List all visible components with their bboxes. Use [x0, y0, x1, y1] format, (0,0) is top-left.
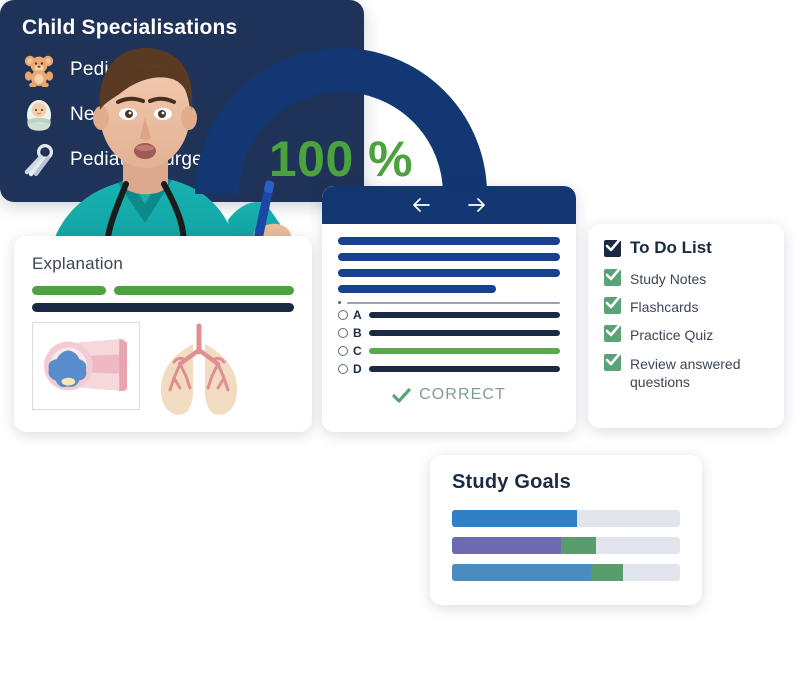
question-line	[338, 285, 496, 293]
explanation-bar-green-short	[32, 286, 106, 295]
explanation-text-placeholder-row-2	[32, 303, 294, 312]
explanation-text-placeholder-row-1	[32, 286, 294, 295]
todo-item-label: Flashcards	[630, 297, 698, 316]
radio-icon[interactable]	[338, 310, 348, 320]
checkbox-icon[interactable]	[604, 269, 621, 286]
checkmark-icon	[603, 293, 623, 313]
todo-list-card[interactable]: To Do List Study Notes Flashcards	[588, 224, 784, 428]
quiz-option-bar	[369, 312, 560, 318]
quiz-option-c[interactable]: C	[338, 345, 560, 357]
explanation-bar-green-long	[114, 286, 294, 295]
study-goal-segment	[452, 537, 561, 554]
quiz-option-letter: B	[353, 327, 364, 339]
checkbox-header-icon[interactable]	[604, 240, 621, 257]
todo-item[interactable]: Review answered questions	[604, 354, 770, 391]
quiz-card[interactable]: A B C D CORRECT	[322, 186, 576, 432]
bronchiole-cross-section-icon	[33, 323, 139, 409]
checkbox-icon[interactable]	[604, 325, 621, 342]
radio-icon[interactable]	[338, 364, 348, 374]
quiz-option-b[interactable]: B	[338, 327, 560, 339]
illustration-stage: 100 % Explanation	[0, 0, 800, 682]
quiz-option-letter: C	[353, 345, 364, 357]
question-line	[338, 253, 560, 261]
bronchiole-cross-section-figure	[32, 322, 140, 410]
checkbox-icon[interactable]	[604, 297, 621, 314]
quiz-navigation-header	[322, 186, 576, 224]
quiz-divider-line	[347, 302, 560, 304]
study-goal-segment	[591, 564, 623, 581]
quiz-result-label: CORRECT	[419, 386, 506, 404]
todo-list-header: To Do List	[604, 238, 770, 258]
study-goals-card[interactable]: Study Goals	[430, 455, 702, 605]
todo-item-label: Study Notes	[630, 269, 706, 288]
explanation-bar-navy	[32, 303, 294, 312]
todo-item[interactable]: Flashcards	[604, 297, 770, 316]
quiz-option-letter: D	[353, 363, 364, 375]
study-goal-bar	[452, 564, 680, 581]
todo-item[interactable]: Study Notes	[604, 269, 770, 288]
explanation-title: Explanation	[32, 254, 294, 274]
gauge-value-label: 100 %	[193, 134, 489, 184]
todo-item[interactable]: Practice Quiz	[604, 325, 770, 344]
checkmark-icon	[603, 236, 623, 256]
score-gauge: 100 %	[193, 42, 489, 202]
checkbox-icon[interactable]	[604, 354, 621, 371]
todo-item-label: Practice Quiz	[630, 325, 713, 344]
quiz-option-bar	[369, 366, 560, 372]
arrow-left-icon[interactable]	[410, 197, 432, 213]
question-line	[338, 237, 560, 245]
quiz-option-a[interactable]: A	[338, 309, 560, 321]
lungs-icon	[144, 318, 254, 422]
explanation-figures	[32, 322, 294, 427]
quiz-option-letter: A	[353, 309, 364, 321]
check-icon	[392, 388, 411, 403]
study-goals-title: Study Goals	[452, 471, 680, 494]
study-goal-segment	[452, 564, 591, 581]
checkmark-icon	[603, 350, 623, 370]
quiz-body: A B C D CORRECT	[322, 224, 576, 404]
study-goal-segment	[452, 510, 577, 527]
study-goal-segment	[561, 537, 595, 554]
checkmark-icon	[603, 265, 623, 285]
quiz-option-bar	[369, 330, 560, 336]
radio-icon[interactable]	[338, 346, 348, 356]
quiz-option-bar-correct	[369, 348, 560, 354]
radio-icon[interactable]	[338, 328, 348, 338]
quiz-divider-dot	[338, 301, 341, 304]
checkmark-icon	[603, 321, 623, 341]
study-goal-bar	[452, 510, 680, 527]
quiz-divider	[338, 301, 560, 304]
todo-item-label: Review answered questions	[630, 354, 770, 391]
study-goal-bar	[452, 537, 680, 554]
todo-list-title: To Do List	[630, 238, 712, 258]
explanation-card[interactable]: Explanation	[14, 236, 312, 432]
quiz-option-d[interactable]: D	[338, 363, 560, 375]
question-line	[338, 269, 560, 277]
quiz-result: CORRECT	[338, 386, 560, 404]
lungs-figure	[144, 318, 254, 422]
arrow-right-icon[interactable]	[466, 197, 488, 213]
